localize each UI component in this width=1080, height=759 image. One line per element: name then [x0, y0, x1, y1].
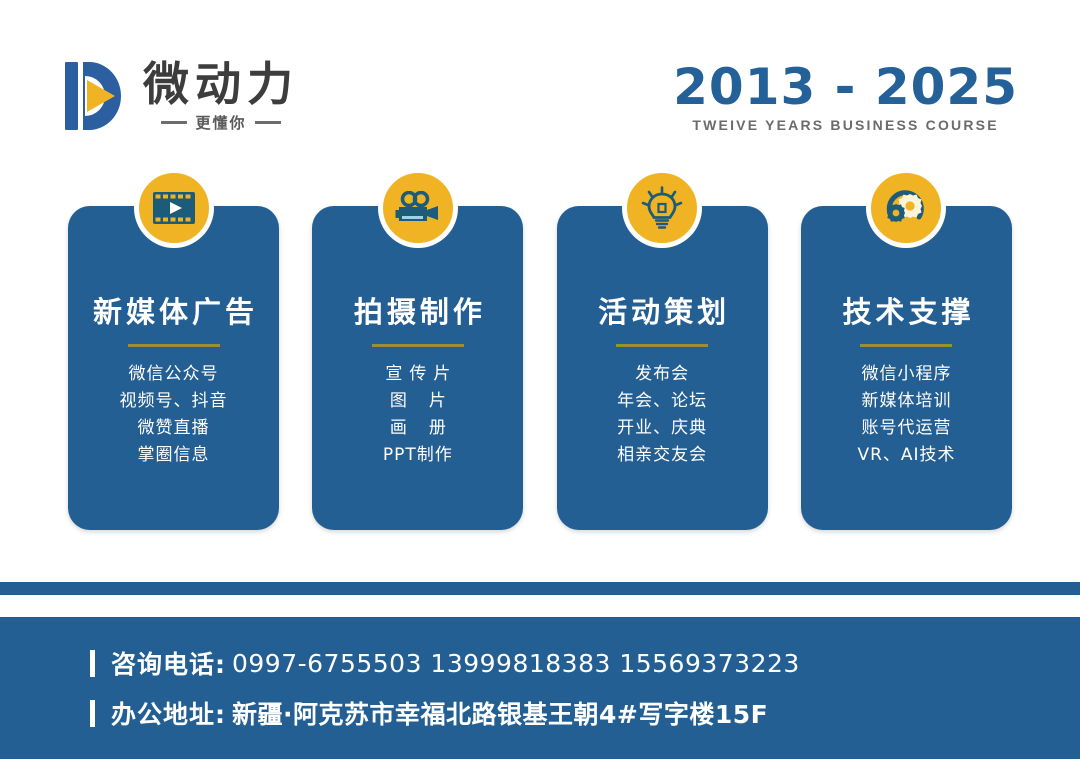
phone-label: 咨询电话:	[111, 645, 226, 681]
card-item: 微信小程序	[801, 361, 1012, 388]
brand-logo: 微动力 更懂你	[65, 58, 299, 133]
card-item: 新媒体培训	[801, 388, 1012, 415]
brand-name: 微动力	[143, 58, 299, 110]
anniversary-block: 2013 - 2025 TWEIVE YEARS BUSINESS COURSE	[673, 60, 1018, 133]
bullet-tick-icon	[90, 650, 95, 677]
separator-bar	[0, 582, 1080, 595]
contact-footer: 咨询电话: 0997-6755503 13999818383 155693732…	[0, 617, 1080, 759]
card-title: 活动策划	[557, 294, 768, 330]
anniversary-subtitle: TWEIVE YEARS BUSINESS COURSE	[673, 117, 1018, 133]
card-item: 微赞直播	[68, 415, 279, 442]
card-divider	[372, 344, 464, 347]
card-item: 微信公众号	[68, 361, 279, 388]
video-camera-icon	[378, 168, 458, 248]
card-item: 掌圈信息	[68, 442, 279, 469]
gears-tech-icon	[866, 168, 946, 248]
service-card[interactable]: 活动策划 发布会 年会、论坛 开业、庆典 相亲交友会	[557, 206, 768, 530]
card-item: 画册	[312, 415, 523, 442]
address-label: 办公地址:	[111, 695, 226, 731]
card-title: 拍摄制作	[312, 294, 523, 330]
service-cards: 新媒体广告 微信公众号 视频号、抖音 微赞直播 掌圈信息	[68, 206, 1012, 536]
film-strip-play-icon	[134, 168, 214, 248]
card-divider	[616, 344, 708, 347]
address-value: 新疆·阿克苏市幸福北路银基王朝4#写字楼15F	[232, 695, 768, 731]
lightbulb-idea-icon	[622, 168, 702, 248]
card-item-list: 发布会 年会、论坛 开业、庆典 相亲交友会	[557, 361, 768, 469]
anniversary-years: 2013 - 2025	[673, 60, 1018, 114]
card-divider	[860, 344, 952, 347]
header: 微动力 更懂你 2013 - 2025 TWEIVE YEARS BUSINES…	[0, 0, 1080, 180]
card-item: 宣传片	[312, 361, 523, 388]
bullet-tick-icon	[90, 700, 95, 727]
card-divider	[128, 344, 220, 347]
card-item-list: 微信公众号 视频号、抖音 微赞直播 掌圈信息	[68, 361, 279, 469]
address-row: 办公地址: 新疆·阿克苏市幸福北路银基王朝4#写字楼15F	[90, 695, 1080, 731]
card-item: 年会、论坛	[557, 388, 768, 415]
slogan-dash-left	[161, 121, 187, 124]
poster-canvas: 微动力 更懂你 2013 - 2025 TWEIVE YEARS BUSINES…	[0, 0, 1080, 759]
phone-value[interactable]: 0997-6755503 13999818383 15569373223	[232, 649, 800, 678]
service-card[interactable]: 拍摄制作 宣传片 图片 画册 PPT制作	[312, 206, 523, 530]
service-card[interactable]: 新媒体广告 微信公众号 视频号、抖音 微赞直播 掌圈信息	[68, 206, 279, 530]
card-item: 账号代运营	[801, 415, 1012, 442]
card-item: 开业、庆典	[557, 415, 768, 442]
phone-row: 咨询电话: 0997-6755503 13999818383 155693732…	[90, 645, 1080, 681]
play-d-logo-icon	[65, 60, 127, 132]
card-item: 相亲交友会	[557, 442, 768, 469]
brand-slogan: 更懂你	[195, 112, 246, 133]
card-item-list: 微信小程序 新媒体培训 账号代运营 VR、AI技术	[801, 361, 1012, 469]
slogan-dash-right	[255, 121, 281, 124]
card-item: VR、AI技术	[801, 442, 1012, 469]
card-item: 图片	[312, 388, 523, 415]
brand-slogan-row: 更懂你	[143, 112, 299, 133]
card-item-list: 宣传片 图片 画册 PPT制作	[312, 361, 523, 469]
card-item: PPT制作	[312, 442, 523, 469]
card-title: 技术支撑	[801, 294, 1012, 330]
card-item: 视频号、抖音	[68, 388, 279, 415]
card-title: 新媒体广告	[68, 294, 279, 330]
card-item: 发布会	[557, 361, 768, 388]
service-card[interactable]: 技术支撑 微信小程序 新媒体培训 账号代运营 VR、AI技术	[801, 206, 1012, 530]
